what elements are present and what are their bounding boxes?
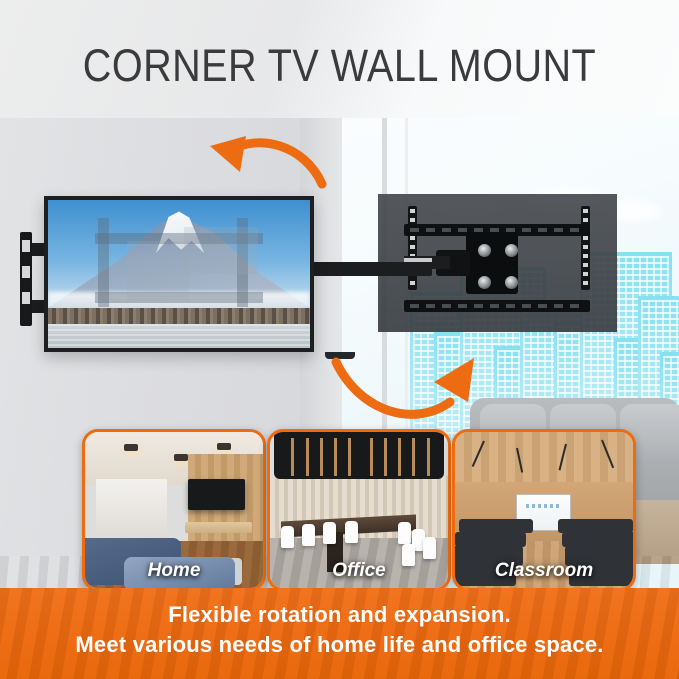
tv-screen xyxy=(48,200,310,348)
scene-thumbnails: Home Of xyxy=(0,429,679,595)
mount-slot-left xyxy=(408,206,417,290)
thumbnail-label-home: Home xyxy=(85,560,263,582)
page-title: CORNER TV WALL MOUNT xyxy=(41,40,639,92)
mount-bolt xyxy=(478,276,491,289)
wall-mounted-tv xyxy=(188,479,245,510)
caption-banner: Flexible rotation and expansion. Meet va… xyxy=(0,588,679,679)
lake-reflection xyxy=(48,324,310,348)
mount-bolt xyxy=(505,244,518,257)
lakeside-town xyxy=(48,308,310,324)
mount-slot-right xyxy=(581,206,590,290)
product-banner: CORNER TV WALL MOUNT xyxy=(0,0,679,679)
thumbnail-label-office: Office xyxy=(270,560,448,582)
caption-line-1: Flexible rotation and expansion. xyxy=(0,602,679,628)
caption-line-2: Meet various needs of home life and offi… xyxy=(0,632,679,658)
thumbnail-label-classroom: Classroom xyxy=(455,560,633,582)
thumbnail-classroom[interactable]: Classroom xyxy=(452,429,636,591)
mount-rail-bottom xyxy=(404,300,590,312)
mount-bolt xyxy=(478,244,491,257)
arrow-to-mount xyxy=(302,340,482,426)
mount-wall-plate xyxy=(20,232,32,326)
arrow-to-tv xyxy=(196,128,328,192)
television xyxy=(44,196,314,352)
mount-bolt xyxy=(505,276,518,289)
thumbnail-home[interactable]: Home xyxy=(82,429,266,591)
thumbnail-office[interactable]: Office xyxy=(267,429,451,591)
